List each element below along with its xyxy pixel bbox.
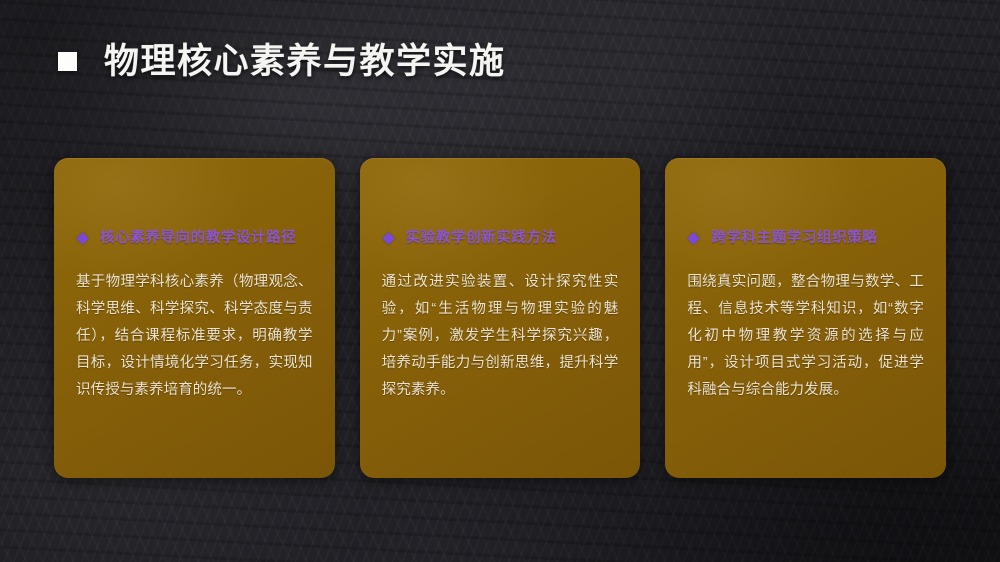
page-title-text: 物理核心素养与教学实施: [104, 44, 506, 79]
content-card[interactable]: 实验教学创新实践方法 通过改进实验装置、设计探究性实验，如“生活物理与物理实验的…: [360, 158, 641, 478]
card-title-text: 跨学科主题学习组织策略: [711, 230, 877, 247]
diamond-bullet-icon: [687, 232, 700, 245]
content-card[interactable]: 跨学科主题学习组织策略 围绕真实问题，整合物理与数学、工程、信息技术等学科知识，…: [665, 158, 946, 478]
card-body-text: 通过改进实验装置、设计探究性实验，如“生活物理与物理实验的魅力”案例，激发学生科…: [382, 269, 619, 403]
card-title-text: 实验教学创新实践方法: [406, 230, 557, 247]
card-title-text: 核心素养导向的教学设计路径: [100, 230, 296, 247]
page-title: 物理核心素养与教学实施: [58, 44, 506, 79]
filled-square-bullet-icon: [58, 52, 77, 71]
card-group: 核心素养导向的教学设计路径 基于物理学科核心素养（物理观念、科学思维、科学探究、…: [54, 158, 946, 478]
card-heading: 核心素养导向的教学设计路径: [76, 230, 313, 247]
slide-canvas: 物理核心素养与教学实施 核心素养导向的教学设计路径 基于物理学科核心素养（物理观…: [0, 0, 1000, 562]
diamond-bullet-icon: [76, 232, 89, 245]
card-heading: 跨学科主题学习组织策略: [687, 230, 924, 247]
diamond-bullet-icon: [382, 232, 395, 245]
card-body-text: 围绕真实问题，整合物理与数学、工程、信息技术等学科知识，如“数字化初中物理教学资…: [687, 269, 924, 403]
card-heading: 实验教学创新实践方法: [382, 230, 619, 247]
card-body-text: 基于物理学科核心素养（物理观念、科学思维、科学探究、科学态度与责任），结合课程标…: [76, 269, 313, 403]
content-card[interactable]: 核心素养导向的教学设计路径 基于物理学科核心素养（物理观念、科学思维、科学探究、…: [54, 158, 335, 478]
